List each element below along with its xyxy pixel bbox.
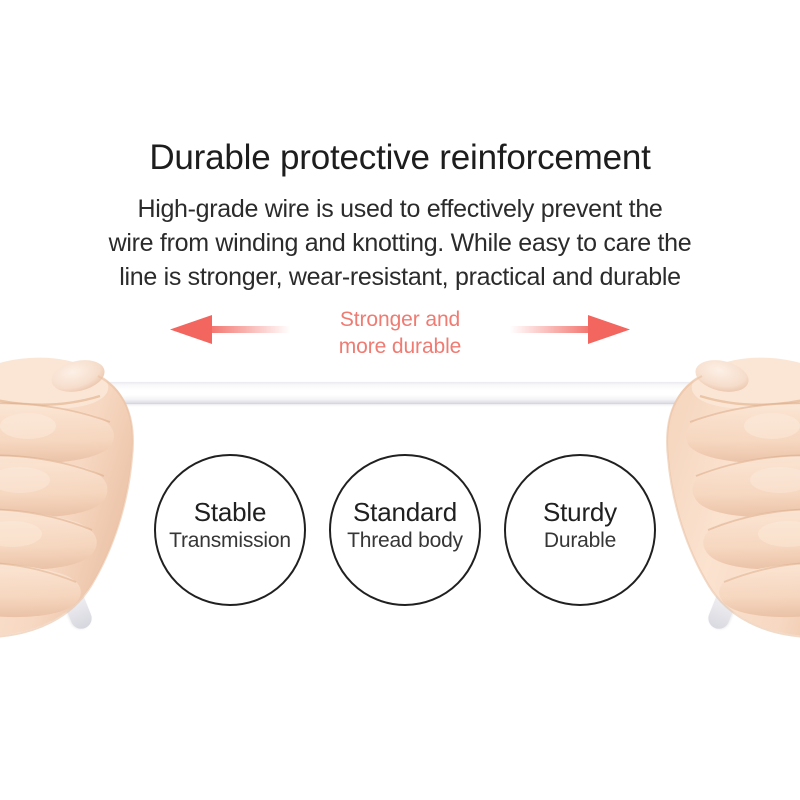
arrow-left-icon (170, 312, 290, 348)
body-copy: High-grade wire is used to effectively p… (0, 192, 800, 294)
feature-label-sturdy: Sturdy Durable (450, 496, 710, 554)
body-line-3: line is stronger, wear-resistant, practi… (0, 260, 800, 294)
page-title: Durable protective reinforcement (0, 138, 800, 178)
product-feature-banner: Durable protective reinforcement High-gr… (0, 0, 800, 800)
white-cable (95, 382, 705, 404)
feature-subtitle-3: Durable (450, 528, 710, 554)
callout-line-1: Stronger and (0, 306, 800, 333)
feature-title-3: Sturdy (450, 496, 710, 528)
arrow-right-icon (510, 312, 630, 348)
body-line-2: wire from winding and knotting. While ea… (0, 226, 800, 260)
body-line-1: High-grade wire is used to effectively p… (0, 192, 800, 226)
